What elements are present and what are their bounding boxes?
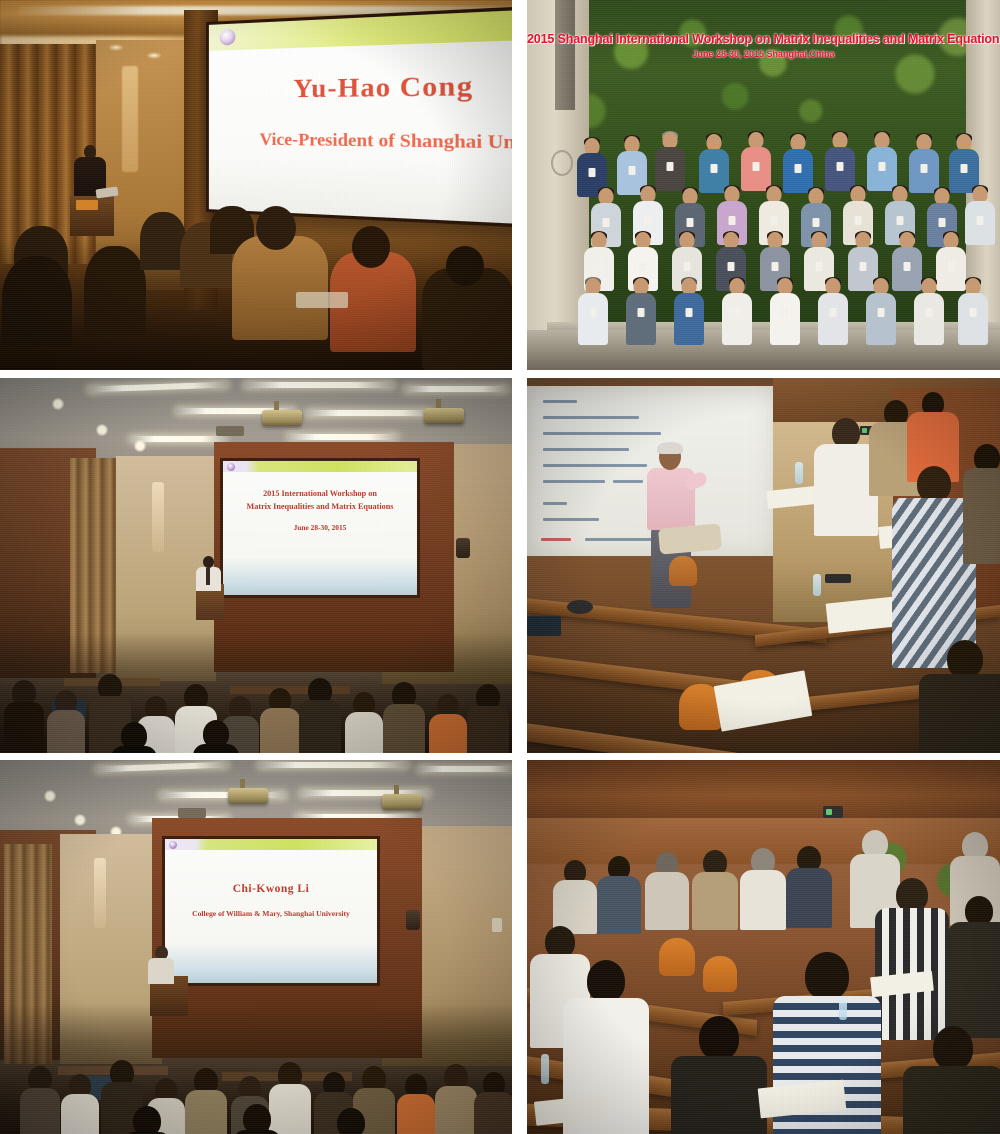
audience-member: [555, 860, 595, 930]
projection-screen-frame: Yu-Hao Cong Vice-President of Shanghai U…: [206, 3, 512, 230]
downlight-icon: [96, 424, 108, 436]
audience-member: [470, 684, 506, 753]
ceiling-light: [418, 766, 512, 772]
wall-upper: [527, 760, 1000, 818]
slide-text-line: [543, 518, 599, 521]
ceiling-light: [244, 382, 394, 388]
computer-mouse: [567, 600, 593, 614]
water-bottle: [839, 998, 847, 1020]
ceiling-light: [258, 762, 408, 768]
audience-member: [262, 688, 298, 753]
slide-text-line: [543, 448, 629, 451]
water-bottle: [541, 1054, 549, 1084]
ceiling-light: [288, 434, 398, 440]
wall-niche: [94, 858, 106, 928]
slide-text-line: [543, 432, 661, 435]
wall-sign: [492, 918, 502, 932]
water-bottle: [795, 462, 803, 484]
slide-text-line: [543, 400, 577, 403]
audience-member: [907, 1026, 999, 1134]
ceiling-projector: [228, 788, 268, 804]
slide-title: Yu-Hao Cong: [209, 69, 512, 105]
exit-sign-icon: [823, 806, 843, 818]
audience-head: [352, 226, 390, 268]
group-person: [697, 134, 731, 192]
university-logo-icon: [169, 841, 177, 849]
ceiling-light: [306, 410, 434, 416]
water-bottle: [813, 574, 821, 596]
downlight-icon: [74, 814, 86, 826]
group-person-seated: [573, 278, 613, 350]
audience-member: [346, 692, 382, 753]
university-logo-icon: [220, 29, 236, 46]
audience-member: [789, 846, 829, 926]
slide-text-line: [543, 464, 647, 467]
photo-hall-wide[interactable]: 2015 International Workshop on Matrix In…: [0, 378, 512, 753]
audience-member: [398, 1074, 434, 1134]
audience-member: [236, 1104, 278, 1134]
downlight-icon: [146, 52, 162, 59]
downlight-icon: [52, 398, 64, 410]
audience-member: [647, 852, 687, 928]
ceiling-light: [404, 386, 508, 392]
group-person-seated: [621, 278, 661, 350]
slide-text-line: [543, 416, 639, 419]
slide-text-line: [543, 502, 567, 505]
chair: [669, 556, 697, 586]
photo-audience[interactable]: [527, 760, 1000, 1134]
building-column-inner: [555, 0, 575, 110]
attendee: [967, 444, 1000, 564]
projection-screen-frame: Chi-Kwong Li College of William & Mary, …: [162, 836, 380, 986]
group-person: [823, 132, 857, 188]
photo-group[interactable]: 2015 Shanghai International Workshop on …: [527, 0, 1000, 370]
projection-screen: Chi-Kwong Li College of William & Mary, …: [165, 839, 377, 983]
group-person-seated: [953, 278, 993, 350]
ceiling-projector: [262, 410, 302, 426]
ceiling-projector: [424, 408, 464, 424]
audience-member: [6, 680, 42, 753]
group-person: [739, 132, 773, 190]
audience-member: [302, 678, 338, 753]
ceiling-vent: [178, 808, 206, 818]
downlight-icon: [134, 440, 146, 452]
university-logo-icon: [227, 463, 235, 471]
group-person: [865, 132, 899, 190]
audience-member: [438, 1064, 474, 1134]
slide-text-line-highlight: [541, 538, 571, 541]
audience-head: [256, 206, 296, 250]
podium-plate: [76, 200, 98, 210]
desk-paper: [296, 292, 348, 308]
audience-member: [695, 850, 735, 928]
audience-member: [330, 1108, 372, 1134]
projection-screen-frame: 2015 International Workshop on Matrix In…: [220, 458, 420, 598]
group-person-seated: [717, 278, 757, 350]
group-person-seated: [909, 278, 949, 350]
wall-speaker: [406, 910, 420, 930]
ceiling-vent: [216, 426, 244, 436]
remote-control: [825, 574, 851, 583]
audience-member: [62, 1074, 98, 1134]
group-person-seated: [861, 278, 901, 350]
audience-member: [126, 1106, 168, 1134]
group-person-seated: [813, 278, 853, 350]
group-person: [653, 132, 687, 190]
group-person-seated: [669, 278, 709, 350]
attendee: [925, 640, 1000, 753]
chair: [703, 956, 737, 992]
ceiling-projector: [382, 794, 422, 810]
audience-member: [22, 1066, 58, 1134]
wall-speaker: [456, 538, 470, 558]
slide-header-bar: [165, 839, 377, 850]
laptop: [527, 616, 561, 636]
photo-chi-kwong-li[interactable]: Chi-Kwong Li College of William & Mary, …: [0, 760, 512, 1134]
downlight-icon: [108, 44, 124, 51]
audience-silhouette: [84, 246, 146, 336]
audience-member: [675, 1016, 763, 1134]
projection-screen: 2015 International Workshop on Matrix In…: [223, 461, 417, 595]
wall-niche: [122, 66, 138, 172]
slide-title: Chi-Kwong Li: [165, 883, 377, 895]
slide-subtitle: College of William & Mary, Shanghai Univ…: [165, 909, 377, 918]
photo-opening-ceremony[interactable]: Yu-Hao Cong Vice-President of Shanghai U…: [0, 0, 512, 370]
speaker-tie: [206, 568, 210, 585]
downlight-icon: [44, 790, 56, 802]
photo-collage: Yu-Hao Cong Vice-President of Shanghai U…: [0, 0, 1000, 1134]
audience-member: [476, 1072, 512, 1134]
group-person-seated: [765, 278, 805, 350]
slide-line-3: June 28-30, 2015: [223, 523, 417, 532]
attendee: [817, 418, 875, 536]
speaker-hair: [657, 442, 683, 454]
wall-emblem-icon: [551, 150, 573, 176]
group-person: [781, 134, 815, 192]
wall-niche: [152, 482, 164, 552]
audience-member: [430, 694, 466, 753]
slide-subtitle: Vice-President of Shanghai Universi: [209, 129, 512, 156]
audience-member: [599, 856, 639, 930]
speaker-body: [148, 958, 174, 984]
audience-silhouette: [232, 236, 328, 340]
audience-member: [951, 896, 1000, 1036]
slide-header-bar: [223, 461, 417, 472]
audience-head: [446, 246, 484, 286]
chair: [659, 938, 695, 976]
audience-member: [48, 690, 84, 753]
audience-member: [879, 878, 945, 1038]
audience-member: [114, 722, 154, 753]
audience-member: [188, 1068, 224, 1134]
audience-member: [743, 848, 783, 928]
photo-lecture-pink-shirt[interactable]: [527, 378, 1000, 753]
audience-silhouette: [2, 256, 72, 346]
slide-line-2: Matrix Inequalities and Matrix Equations: [223, 502, 417, 511]
slide-text-line: [543, 480, 605, 483]
audience-member: [386, 682, 422, 753]
audience-member: [196, 720, 236, 753]
speaker-head: [203, 556, 214, 568]
group-person: [947, 134, 981, 192]
projection-screen: Yu-Hao Cong Vice-President of Shanghai U…: [209, 7, 512, 227]
attendee: [899, 466, 969, 666]
slide-line-1: 2015 International Workshop on: [223, 489, 417, 498]
bag: [658, 523, 722, 554]
group-person: [907, 134, 941, 194]
